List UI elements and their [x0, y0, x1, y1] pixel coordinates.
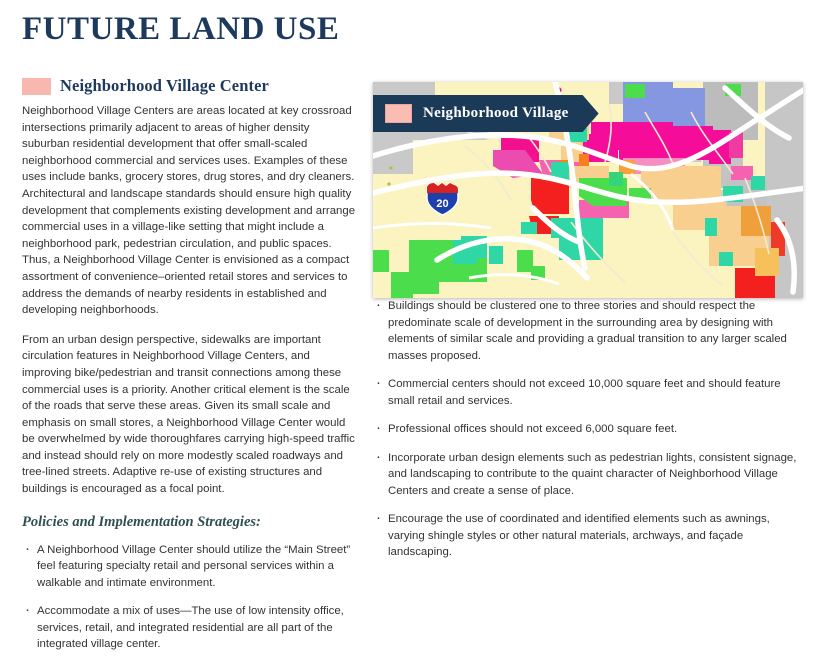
- strategies-bullet-list: A Neighborhood Village Center should uti…: [22, 542, 360, 653]
- land-use-color-swatch: [22, 78, 51, 95]
- list-item: Buildings should be clustered one to thr…: [373, 298, 803, 364]
- page-title: FUTURE LAND USE: [22, 11, 339, 48]
- list-item: Professional offices should not exceed 6…: [373, 421, 803, 438]
- legend-label: Neighborhood Village: [423, 105, 569, 122]
- strategies-heading: Policies and Implementation Strategies:: [22, 514, 360, 531]
- list-item: Commercial centers should not exceed 10,…: [373, 376, 803, 409]
- shield-number: 20: [436, 198, 448, 210]
- document-page: FUTURE LAND USE Neighborhood Village Cen…: [0, 0, 825, 592]
- section-heading-row: Neighborhood Village Center: [22, 76, 360, 96]
- left-column: Neighborhood Village Center Neighborhood…: [22, 76, 360, 665]
- body-paragraph-1: Neighborhood Village Centers are areas l…: [22, 103, 360, 319]
- section-heading-label: Neighborhood Village Center: [60, 76, 269, 96]
- list-item: Encourage the use of coordinated and ide…: [373, 511, 803, 561]
- right-column: 20 Neighborhood Village Buildings should…: [373, 82, 803, 573]
- guidelines-bullet-list: Buildings should be clustered one to thr…: [373, 298, 803, 561]
- list-item: Incorporate urban design elements such a…: [373, 450, 803, 500]
- list-item: A Neighborhood Village Center should uti…: [22, 542, 360, 592]
- body-paragraph-2: From an urban design perspective, sidewa…: [22, 332, 360, 498]
- map-legend-banner: Neighborhood Village: [373, 95, 599, 132]
- legend-color-swatch: [385, 104, 412, 123]
- list-item: Accommodate a mix of uses—The use of low…: [22, 603, 360, 653]
- future-land-use-map: 20 Neighborhood Village: [373, 82, 803, 298]
